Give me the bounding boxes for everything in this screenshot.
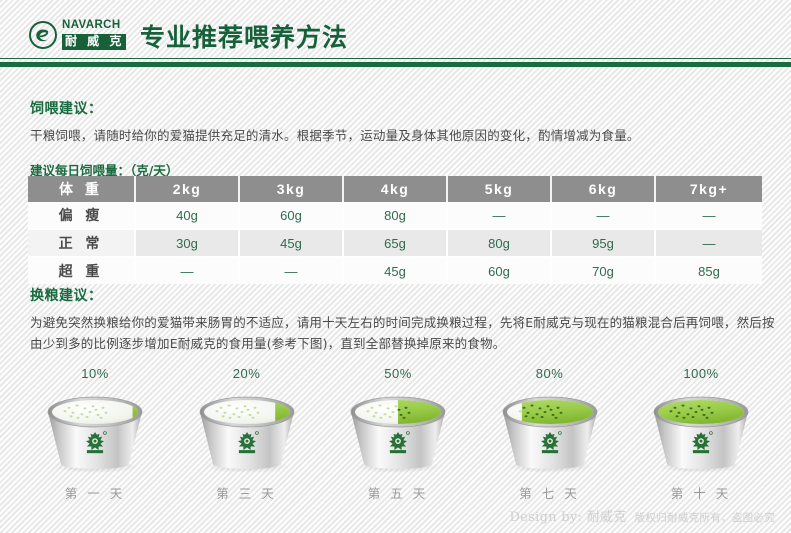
transition-percent-label: 80% (536, 366, 564, 381)
page-footer: Design by: 耐威克 版权归耐威克所有，盗图必究 (509, 506, 775, 525)
cell-normal-3kg: 45g (240, 230, 344, 258)
transition-day-label: 第 七 天 (519, 483, 579, 502)
transition-step: 20% (176, 366, 318, 502)
brand-logo[interactable]: NAVARCH 耐 威 克 (28, 20, 126, 50)
navarch-e-monogram-icon (28, 20, 58, 50)
page-title: 专业推荐喂养方法 (140, 18, 348, 54)
cell-underweight-4kg: 80g (344, 202, 448, 230)
switch-advice-text: 为避免突然换粮给你的爱猫带来肠胃的不适应，请用十天左右的时间完成换粮过程，先将E… (30, 312, 778, 354)
transition-step: 10% (24, 366, 166, 502)
brand-name-cn: 耐 威 克 (62, 34, 126, 50)
food-bowl-graphic (176, 386, 318, 476)
row-header-overweight: 超 重 (28, 258, 136, 284)
transition-step: 80% (479, 366, 621, 502)
column-header-4kg: 4kg (344, 176, 448, 202)
column-header-7kg: 7kg+ (656, 176, 762, 202)
transition-percent-label: 20% (233, 366, 261, 381)
transition-percent-label: 10% (81, 366, 109, 381)
cell-underweight-5kg: — (448, 202, 552, 230)
transition-day-label: 第 三 天 (216, 483, 276, 502)
table-header-row: 体 重 2kg 3kg 4kg 5kg 6kg 7kg+ (28, 176, 762, 202)
feeding-amount-table: 体 重 2kg 3kg 4kg 5kg 6kg 7kg+ 偏 瘦 40g 60g… (28, 176, 762, 284)
cell-overweight-5kg: 60g (448, 258, 552, 284)
page-header: NAVARCH 耐 威 克 专业推荐喂养方法 (0, 0, 791, 58)
cell-underweight-2kg: 40g (136, 202, 240, 230)
cell-normal-6kg: 95g (552, 230, 656, 258)
cell-overweight-6kg: 70g (552, 258, 656, 284)
cell-normal-5kg: 80g (448, 230, 552, 258)
transition-day-label: 第 五 天 (368, 483, 428, 502)
copyright-text: 版权归耐威克所有，盗图必究 (635, 510, 775, 525)
row-header-underweight: 偏 瘦 (28, 202, 136, 230)
switch-advice-heading: 换粮建议： (30, 285, 778, 305)
cell-normal-7kg: — (656, 230, 762, 258)
transition-day-label: 第 十 天 (671, 483, 731, 502)
brand-name-en: NAVARCH (62, 20, 126, 32)
column-header-weight: 体 重 (28, 176, 136, 202)
table-row: 正 常 30g 45g 65g 80g 95g — (28, 230, 762, 258)
column-header-5kg: 5kg (448, 176, 552, 202)
transition-percent-label: 50% (384, 366, 412, 381)
transition-percent-label: 100% (683, 366, 718, 381)
table-row: 偏 瘦 40g 60g 80g — — — (28, 202, 762, 230)
feeding-advice-section: 饲喂建议： 干粮饲喂，请随时给你的爱猫提供充足的清水。根据季节，运动量及身体其他… (30, 98, 770, 146)
transition-step: 50% (327, 366, 469, 502)
feeding-advice-heading: 饲喂建议： (30, 98, 770, 118)
transition-step: 100% (630, 366, 772, 502)
cell-normal-4kg: 65g (344, 230, 448, 258)
cell-underweight-6kg: — (552, 202, 656, 230)
row-header-normal: 正 常 (28, 230, 136, 258)
column-header-2kg: 2kg (136, 176, 240, 202)
cell-overweight-4kg: 45g (344, 258, 448, 284)
design-by-text: Design by: 耐威克 (509, 506, 626, 525)
food-bowl-graphic (630, 386, 772, 476)
cell-underweight-7kg: — (656, 202, 762, 230)
column-header-6kg: 6kg (552, 176, 656, 202)
table-row: 超 重 — — 45g 60g 70g 85g (28, 258, 762, 284)
food-bowl-graphic (327, 386, 469, 476)
switch-advice-section: 换粮建议： 为避免突然换粮给你的爱猫带来肠胃的不适应，请用十天左右的时间完成换粮… (30, 285, 778, 354)
cell-underweight-3kg: 60g (240, 202, 344, 230)
food-bowl-graphic (24, 386, 166, 476)
column-header-3kg: 3kg (240, 176, 344, 202)
cell-normal-2kg: 30g (136, 230, 240, 258)
cell-overweight-3kg: — (240, 258, 344, 284)
feeding-advice-text: 干粮饲喂，请随时给你的爱猫提供充足的清水。根据季节，运动量及身体其他原因的变化，… (30, 125, 770, 146)
transition-chart: 10% (24, 366, 772, 502)
header-rule-thin (0, 58, 791, 59)
cell-overweight-2kg: — (136, 258, 240, 284)
cell-overweight-7kg: 85g (656, 258, 762, 284)
transition-day-label: 第 一 天 (65, 483, 125, 502)
header-rule-thick (0, 62, 791, 67)
food-bowl-graphic (479, 386, 621, 476)
